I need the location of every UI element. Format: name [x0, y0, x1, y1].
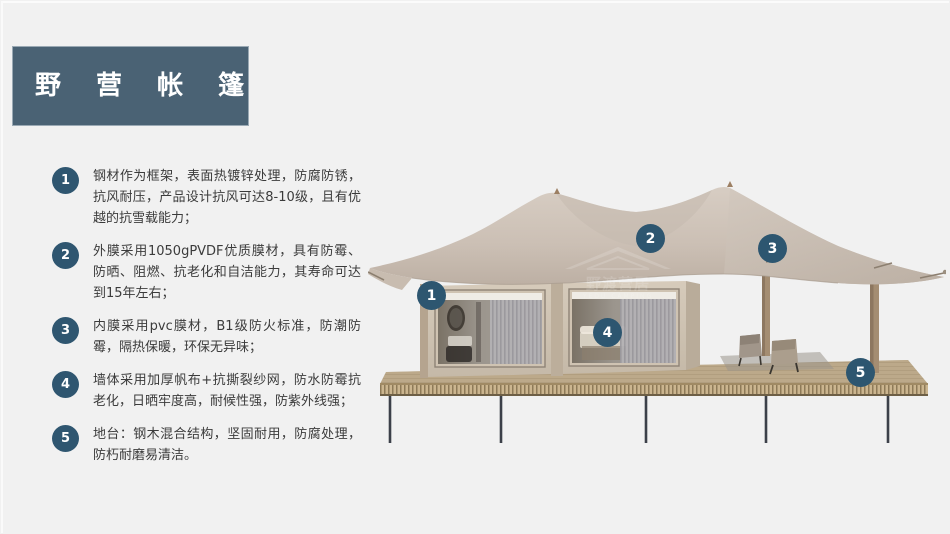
feature-number-badge-2: 2 [52, 242, 79, 269]
feature-number-badge-4: 4 [52, 371, 79, 398]
tent-illustration [368, 150, 946, 450]
feature-list: 1 钢材作为框架，表面热镀锌处理，防腐防锈，抗风耐压，产品设计抗风可达8-10级… [52, 166, 372, 478]
slide-canvas: 野 营 帐 篷 1 钢材作为框架，表面热镀锌处理，防腐防锈，抗风耐压，产品设计抗… [0, 0, 950, 534]
image-callout-badge-1[interactable]: 1 [417, 281, 446, 310]
image-callout-badge-3[interactable]: 3 [758, 234, 787, 263]
feature-text-5: 地台：钢木混合结构，坚固耐用，防腐处理，防朽耐磨易清洁。 [93, 424, 361, 466]
page-title-banner: 野 营 帐 篷 [12, 46, 249, 126]
feature-text-4: 墙体采用加厚帆布+抗撕裂纱网，防水防霉抗老化，日晒牢度高，耐候性强，防紫外线强； [93, 370, 361, 412]
feature-item-3: 3 内膜采用pvc膜材，B1级防火标准，防潮防霉，隔热保暖，环保无异味； [52, 316, 372, 358]
feature-number-badge-1: 1 [52, 167, 79, 194]
window-right [569, 289, 679, 366]
feature-item-2: 2 外膜采用1050gPVDF优质膜材，具有防霉、防晒、阻燃、抗老化和自洁能力，… [52, 241, 372, 304]
feature-text-1: 钢材作为框架，表面热镀锌处理，防腐防锈，抗风耐压，产品设计抗风可达8-10级，且… [93, 166, 361, 229]
feature-number-badge-5: 5 [52, 425, 79, 452]
feature-text-2: 外膜采用1050gPVDF优质膜材，具有防霉、防晒、阻燃、抗老化和自洁能力，其寿… [93, 241, 361, 304]
image-callout-badge-5[interactable]: 5 [846, 358, 875, 387]
feature-item-5: 5 地台：钢木混合结构，坚固耐用，防腐处理，防朽耐磨易清洁。 [52, 424, 372, 466]
feature-item-1: 1 钢材作为框架，表面热镀锌处理，防腐防锈，抗风耐压，产品设计抗风可达8-10级… [52, 166, 372, 229]
feature-item-4: 4 墙体采用加厚帆布+抗撕裂纱网，防水防霉抗老化，日晒牢度高，耐候性强，防紫外线… [52, 370, 372, 412]
canopy-peak-tips [554, 181, 733, 194]
image-callout-badge-4[interactable]: 4 [593, 318, 622, 347]
deck-legs [390, 396, 888, 443]
feature-text-3: 内膜采用pvc膜材，B1级防火标准，防潮防霉，隔热保暖，环保无异味； [93, 316, 361, 358]
image-callout-badge-2[interactable]: 2 [636, 224, 665, 253]
feature-number-badge-3: 3 [52, 317, 79, 344]
window-left [435, 290, 545, 367]
page-title: 野 营 帐 篷 [13, 73, 257, 99]
